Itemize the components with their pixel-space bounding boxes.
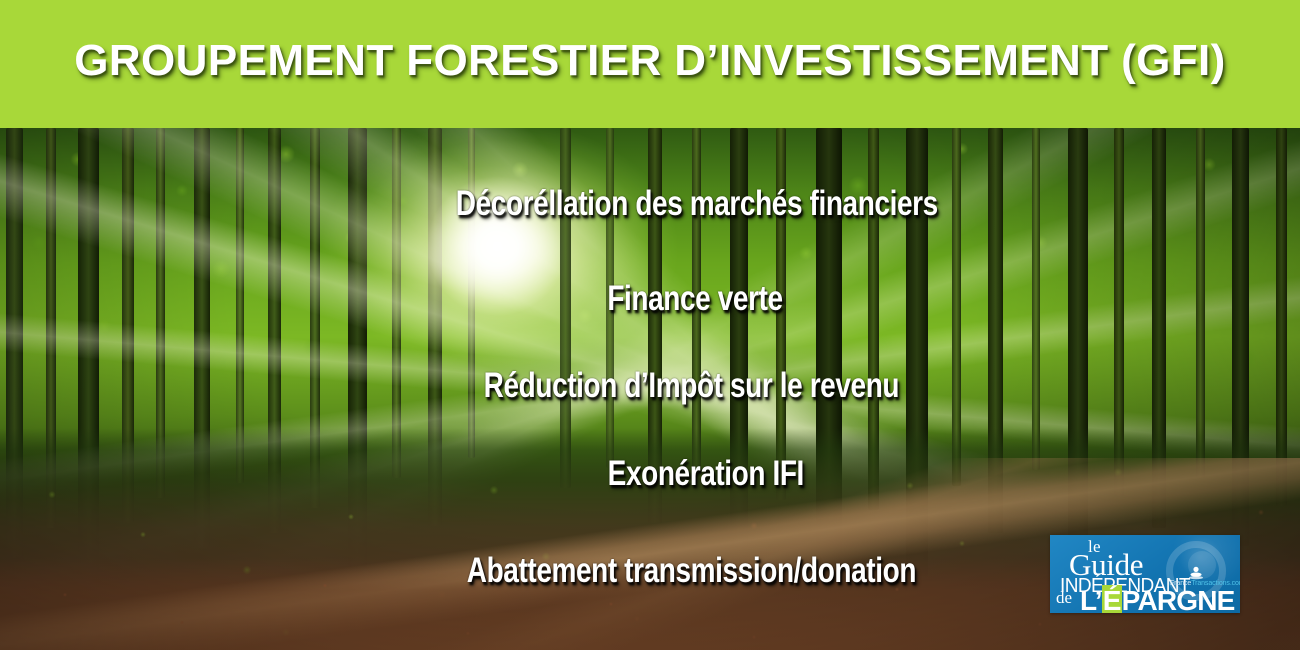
page-title: GROUPEMENT FORESTIER D’INVESTISSEMENT (G…: [0, 36, 1300, 86]
feature-line-reduction-impot: Réduction d’Impôt sur le revenu: [135, 368, 1212, 403]
feature-line-exoneration-ifi: Exonération IFI: [136, 456, 1226, 491]
logo-epargne-accent: É: [1102, 585, 1122, 613]
feature-line-finance-verte: Finance verte: [135, 281, 1215, 316]
header-bar: GROUPEMENT FORESTIER D’INVESTISSEMENT (G…: [0, 0, 1300, 128]
feature-line-decorrelation: Décoréllation des marchés financiers: [135, 186, 1217, 221]
guide-independant-epargne-logo[interactable]: le Guide INDÉPENDANT FranceTransactions.…: [1050, 535, 1240, 613]
logo-word-de: de: [1056, 588, 1072, 608]
gfi-promo-banner: GROUPEMENT FORESTIER D’INVESTISSEMENT (G…: [0, 0, 1300, 650]
logo-word-epargne: L’ÉPARGNE: [1080, 585, 1235, 613]
logo-epargne-prefix: L’: [1080, 585, 1102, 613]
logo-epargne-suffix: PARGNE: [1122, 585, 1235, 613]
france-transactions-badge-icon: [1188, 566, 1204, 580]
